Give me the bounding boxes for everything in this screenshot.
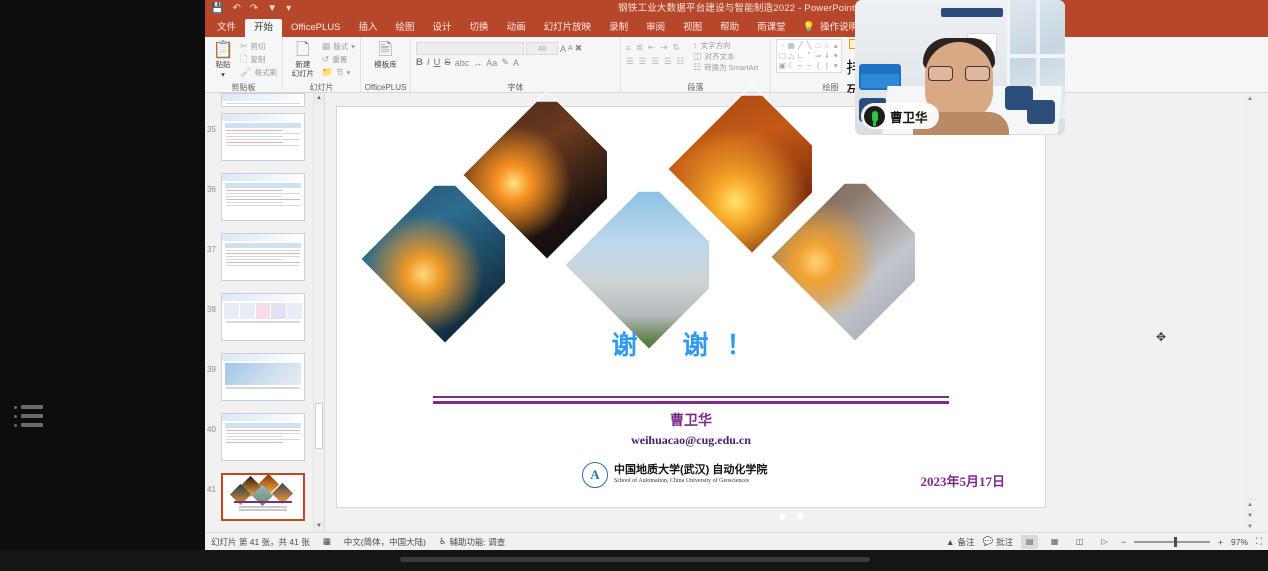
lightbulb-icon: 💡 <box>803 22 815 33</box>
accessibility-icon: ♿ <box>439 536 447 547</box>
microphone-icon[interactable] <box>864 106 885 127</box>
thumbnail-number: 35 <box>207 125 216 134</box>
align-text-icon: ◫ <box>693 51 702 62</box>
shape-brace-right-icon[interactable]: } <box>822 61 831 71</box>
font-size-input[interactable]: 48 <box>526 42 558 55</box>
notes-button[interactable]: ▲ 备注 <box>946 536 974 548</box>
slideshow-button[interactable]: ▷ <box>1096 535 1113 549</box>
notes-icon: ▲ <box>946 537 954 547</box>
layout-dropdown-icon[interactable]: ▾ <box>351 41 355 52</box>
tab-design[interactable]: 设计 <box>424 19 461 37</box>
video-overlay[interactable]: 曹卫华 <box>855 0 1065 135</box>
underline-button[interactable]: U <box>434 57 441 68</box>
tab-record[interactable]: 录制 <box>600 19 637 37</box>
previous-slide-button[interactable]: ▲ <box>1244 499 1256 510</box>
template-label: 模板库 <box>374 60 397 69</box>
smartart-icon: ☷ <box>693 62 701 73</box>
paste-label: 粘贴 <box>216 60 231 69</box>
participant-name-badge: 曹卫华 <box>861 103 939 129</box>
thumbnail-38[interactable]: 38 <box>205 291 324 351</box>
shape-rect-icon[interactable]: ▫ <box>778 41 787 51</box>
thumbnail-39[interactable]: 39 <box>205 351 324 411</box>
bold-button[interactable]: B <box>416 57 423 68</box>
shape-oval-icon[interactable]: ○ <box>822 41 831 51</box>
organization-name-en: School of Automation, China University o… <box>614 477 767 486</box>
comment-icon: 💬 <box>982 536 993 547</box>
scissors-icon: ✂ <box>240 41 248 52</box>
copy-label: 复制 <box>250 54 265 65</box>
section-icon: 📁 <box>322 67 333 78</box>
officeplus-group-label: OfficePLUS <box>361 83 410 93</box>
copy-button[interactable]: 🗋 复制 <box>240 54 277 65</box>
align-right-icon[interactable]: ☰ <box>651 56 659 67</box>
tab-transitions[interactable]: 切换 <box>461 19 498 37</box>
text-direction-button[interactable]: ↕ 文字方向 <box>693 40 758 51</box>
stage-scroll-up-icon[interactable]: ▲ <box>1244 93 1256 105</box>
tab-home[interactable]: 开始 <box>245 19 282 37</box>
clipboard-group-label: 剪贴板 <box>205 83 282 93</box>
accessibility-label: 辅助功能: 调查 <box>450 536 506 548</box>
shape-moon-icon[interactable]: ☾ <box>787 61 796 71</box>
eyeglasses-icon <box>928 66 990 82</box>
ribbon-group-officeplus: 🖹 模板库 OfficePLUS <box>361 37 411 93</box>
tab-help[interactable]: 帮助 <box>711 19 748 37</box>
taskbar-strip <box>0 550 1268 571</box>
shapes-scroll-down-icon[interactable]: ▾ <box>831 51 840 61</box>
thumbnail-card[interactable] <box>221 353 305 401</box>
thumbnail-card[interactable] <box>221 173 305 221</box>
clear-formatting-icon[interactable]: ✖ <box>575 43 583 54</box>
title-bar: 💾 ↶ ↷ ▼ ▾ 钢铁工业大数据平台建设与智能制造2022 - PowerPo… <box>205 0 1268 18</box>
shape-rounded-icon[interactable]: ▢ <box>778 51 787 61</box>
slide-stage: 谢 谢！ 曹卫华 weihuacao@cug.edu.cn A 中国地质大学(武… <box>326 93 1256 532</box>
ribbon-group-slides: 🗋 新建幻灯片 ▦ 版式 ▾ ↺ 重置 <box>283 37 361 93</box>
ribbon: 📋 粘贴 ▾ ✂ 剪切 🗋 复制 <box>205 37 1268 93</box>
layout-label: 版式 <box>333 41 348 52</box>
shape-curve-icon[interactable]: ∼ <box>796 61 805 71</box>
shape-arrow-icon[interactable]: ╲ <box>805 41 814 51</box>
shape-angle-icon[interactable]: ∟ <box>796 51 805 61</box>
text-direction-icon: ↕ <box>693 40 698 51</box>
thanks-text: 谢 谢！ <box>337 325 1045 362</box>
line-spacing-icon[interactable]: ⇅ <box>672 42 679 53</box>
layout-icon: ▦ <box>322 41 331 52</box>
current-slide[interactable]: 谢 谢！ 曹卫华 weihuacao@cug.edu.cn A 中国地质大学(武… <box>336 106 1046 508</box>
thumbnail-scrollbar[interactable]: ▲ ▼ <box>313 93 324 532</box>
font-color-icon[interactable]: A <box>513 58 519 68</box>
slide-sorter-button[interactable]: ▦ <box>1046 535 1063 549</box>
thumbnail-number: 40 <box>207 425 216 434</box>
wall-strip <box>941 8 1003 17</box>
layout-button[interactable]: ▦ 版式 ▾ <box>322 41 355 52</box>
thumbnail-number: 38 <box>207 305 216 314</box>
stage-scrollbar[interactable]: ▲ ▲ ▼ ▼ <box>1244 93 1256 532</box>
new-slide-button[interactable]: 🗋 新建幻灯片 <box>288 39 318 78</box>
tab-yuketang[interactable]: 雨课堂 <box>748 19 795 37</box>
tab-slideshow[interactable]: 幻灯片放映 <box>535 19 601 37</box>
thumbnail-number: 36 <box>207 185 216 194</box>
organization-name-cn: 中国地质大学(武汉) 自动化学院 <box>614 464 767 477</box>
tab-officeplus[interactable]: OfficePLUS <box>282 19 349 37</box>
shape-square-icon[interactable]: □ <box>814 41 823 51</box>
cut-label: 剪切 <box>251 41 266 52</box>
slide-pagination-dots[interactable] <box>326 513 1256 520</box>
thumbnail-card[interactable] <box>221 233 305 281</box>
theme-icon[interactable]: ▦ <box>323 536 331 547</box>
ribbon-group-clipboard: 📋 粘贴 ▾ ✂ 剪切 🗋 复制 <box>205 37 283 93</box>
fit-slide-icon[interactable]: ⛶ <box>1256 536 1262 547</box>
slide-count-label: 幻灯片 第 41 张，共 41 张 <box>211 536 310 548</box>
language-label[interactable]: 中文(简体，中国大陆) <box>344 536 426 548</box>
reset-label: 重置 <box>332 54 347 65</box>
zoom-out-button[interactable]: − <box>1121 537 1126 547</box>
mouse-cursor: ✥ <box>1156 330 1166 344</box>
numbering-icon[interactable]: ≣ <box>636 42 643 53</box>
align-text-label: 对齐文本 <box>705 51 735 62</box>
notes-label: 备注 <box>957 536 974 548</box>
strikethrough-button[interactable]: abc <box>455 58 470 68</box>
font-name-input[interactable] <box>416 42 524 55</box>
window-title: 钢铁工业大数据平台建设与智能制造2022 - PowerPoint <box>205 0 1268 18</box>
paste-button[interactable]: 📋 粘贴 ▾ <box>210 39 236 79</box>
paste-dropdown-icon[interactable]: ▾ <box>221 70 225 79</box>
thumbnail-card-selected[interactable] <box>221 473 305 521</box>
thumbnail-34[interactable] <box>205 93 324 111</box>
screen-root: 💾 ↶ ↷ ▼ ▾ 钢铁工业大数据平台建设与智能制造2022 - PowerPo… <box>0 0 1268 571</box>
shape-corner-icon[interactable]: ⌜ <box>805 51 814 61</box>
shape-cube-icon[interactable]: ▣ <box>778 61 787 71</box>
stage-scroll-down-icon[interactable]: ▼ <box>1244 521 1256 532</box>
tab-view[interactable]: 视图 <box>674 19 711 37</box>
comments-button[interactable]: 💬 批注 <box>982 536 1013 548</box>
italic-button[interactable]: I <box>427 57 430 68</box>
shapes-gallery[interactable]: ▫ ▦ ╱ ╲ □ ○ ▴ ▢ △ ∟ ⌜ ⇒ ⇓ ▾ ▣ <box>776 39 842 73</box>
convert-smartart-label: 转换为 SmartArt <box>704 62 758 73</box>
zoom-level-label[interactable]: 97% <box>1231 537 1248 547</box>
tab-review[interactable]: 审阅 <box>637 19 674 37</box>
thumbnail-35[interactable]: 35 <box>205 111 324 171</box>
powerpoint-window: 💾 ↶ ↷ ▼ ▾ 钢铁工业大数据平台建设与智能制造2022 - PowerPo… <box>205 0 1268 550</box>
tab-draw[interactable]: 绘图 <box>387 19 424 37</box>
accessibility-status[interactable]: ♿ 辅助功能: 调查 <box>439 536 505 548</box>
left-rail <box>0 0 205 550</box>
shadow-button[interactable]: S <box>444 57 450 68</box>
decorative-rule <box>433 396 949 404</box>
section-dropdown-icon[interactable]: ▾ <box>346 67 350 78</box>
shape-arrow-down-icon[interactable]: ⇓ <box>822 51 831 61</box>
reading-view-button[interactable]: ◫ <box>1071 535 1088 549</box>
taskbar-scroll-indicator[interactable] <box>400 557 870 562</box>
new-slide-label: 新建幻灯片 <box>292 60 315 78</box>
thumbnail-number: 41 <box>207 485 216 494</box>
scroll-up-icon[interactable]: ▲ <box>314 93 324 104</box>
scrollbar-thumb[interactable] <box>315 403 323 449</box>
university-logo-icon: A <box>582 462 608 488</box>
clipboard-icon: 📋 <box>212 41 233 59</box>
align-left-icon[interactable]: ☰ <box>626 56 634 67</box>
ribbon-group-paragraph: ≡ ≣ ⇤ ⇥ ⇅ ☰ ☰ ☰ ☰ ☷ <box>621 37 771 93</box>
presenter-email: weihuacao@cug.edu.cn <box>337 433 1045 448</box>
thumbnail-41[interactable]: 41 <box>205 471 324 531</box>
character-spacing-icon[interactable]: ↔ <box>473 58 482 68</box>
section-button[interactable]: 📁 节 ▾ <box>322 67 355 78</box>
reset-icon: ↺ <box>322 54 330 65</box>
thumbnail-card[interactable] <box>221 413 305 461</box>
change-case-icon[interactable]: Aa <box>486 58 497 68</box>
next-slide-button[interactable]: ▼ <box>1244 510 1256 521</box>
increase-indent-icon[interactable]: ⇥ <box>660 42 667 53</box>
thumbnail-card[interactable] <box>221 293 305 341</box>
shape-textbox-icon[interactable]: ▦ <box>787 41 796 51</box>
align-text-button[interactable]: ◫ 对齐文本 <box>693 51 758 62</box>
template-library-button[interactable]: 🖹 模板库 <box>366 39 405 69</box>
ribbon-tabs: 文件 开始 OfficePLUS 插入 绘图 设计 切换 动画 幻灯片放映 录制… <box>205 18 1268 37</box>
align-center-icon[interactable]: ☰ <box>639 56 647 67</box>
chair <box>1027 100 1055 124</box>
slide-thumbnail-panel[interactable]: 35 36 <box>205 93 325 532</box>
normal-view-button[interactable]: ▤ <box>1021 535 1038 549</box>
status-bar: 幻灯片 第 41 张，共 41 张 ▦ 中文(简体，中国大陆) ♿ 辅助功能: … <box>205 532 1268 550</box>
shape-arrow-right-icon[interactable]: ⇒ <box>814 51 823 61</box>
ribbon-group-font: 48 A A ✖ B I U S abc ↔ Aa ✎ A <box>411 37 621 93</box>
format-painter-label: 格式刷 <box>255 67 278 78</box>
thumbnail-card[interactable] <box>221 93 305 107</box>
thumbnail-number: 37 <box>207 245 216 254</box>
zoom-in-button[interactable]: + <box>1218 537 1223 547</box>
text-highlight-icon[interactable]: ✎ <box>501 57 509 68</box>
reset-button[interactable]: ↺ 重置 <box>322 54 355 65</box>
format-painter-button[interactable]: 🖌 格式刷 <box>240 67 277 78</box>
decrease-font-icon[interactable]: A <box>568 45 573 52</box>
zoom-slider-knob[interactable] <box>1174 537 1177 547</box>
organization-block: A 中国地质大学(武汉) 自动化学院 School of Automation,… <box>582 462 767 488</box>
participant-name: 曹卫华 <box>890 107 928 126</box>
tab-animations[interactable]: 动画 <box>498 19 535 37</box>
convert-smartart-button[interactable]: ☷ 转换为 SmartArt <box>693 62 758 73</box>
shape-triangle-icon[interactable]: △ <box>787 51 796 61</box>
slide-date: 2023年5月17日 <box>920 471 1005 490</box>
tab-file[interactable]: 文件 <box>208 19 245 37</box>
pagination-dot-1[interactable] <box>779 513 786 520</box>
pagination-dot-2[interactable] <box>797 513 804 520</box>
text-direction-label: 文字方向 <box>701 40 731 51</box>
cut-button[interactable]: ✂ 剪切 <box>240 41 277 52</box>
new-slide-icon: 🗋 <box>296 41 310 59</box>
thumbnail-card[interactable] <box>221 113 305 161</box>
scroll-down-icon[interactable]: ▼ <box>314 521 324 532</box>
presenter-name: 曹卫华 <box>337 410 1045 430</box>
template-icon: 🖹 <box>379 41 393 59</box>
list-menu-icon[interactable] <box>10 400 46 444</box>
workspace: 35 36 <box>205 93 1268 532</box>
thumbnail-37[interactable]: 37 <box>205 231 324 291</box>
tab-insert[interactable]: 插入 <box>350 19 387 37</box>
shapes-more-icon[interactable]: ▾ <box>831 61 840 71</box>
thumbnail-36[interactable]: 36 <box>205 171 324 231</box>
paintbrush-icon: 🖌 <box>240 67 251 78</box>
shape-brace-left-icon[interactable]: { <box>814 61 823 71</box>
copy-icon: 🗋 <box>240 54 247 65</box>
comments-label: 批注 <box>996 536 1013 548</box>
decrease-indent-icon[interactable]: ⇤ <box>648 42 655 53</box>
slides-group-label: 幻灯片 <box>283 83 360 93</box>
increase-font-icon[interactable]: A <box>560 44 566 54</box>
thumbnail-number: 39 <box>207 365 216 374</box>
justify-icon[interactable]: ☰ <box>664 56 672 67</box>
font-group-label: 字体 <box>411 83 620 93</box>
columns-icon[interactable]: ☷ <box>677 56 685 67</box>
section-label: 节 <box>336 67 344 78</box>
shapes-scroll-up-icon[interactable]: ▴ <box>831 41 840 51</box>
bullets-icon[interactable]: ≡ <box>626 43 631 53</box>
thumbnail-40[interactable]: 40 <box>205 411 324 471</box>
shape-wave-icon[interactable]: ∽ <box>805 61 814 71</box>
shape-line-icon[interactable]: ╱ <box>796 41 805 51</box>
zoom-slider[interactable] <box>1134 541 1210 543</box>
